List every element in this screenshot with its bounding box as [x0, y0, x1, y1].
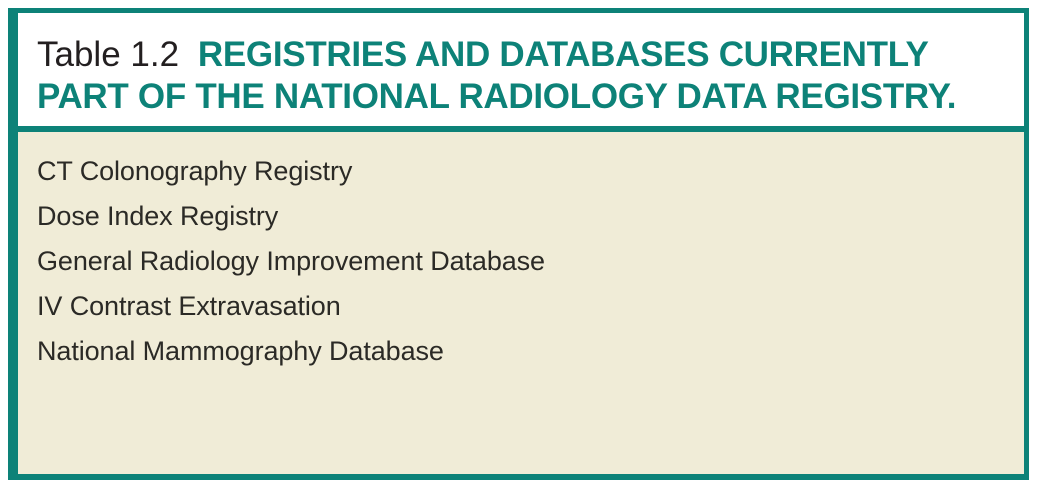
list-item: Dose Index Registry — [37, 194, 1010, 239]
table-number-label: Table 1.2 — [37, 35, 179, 74]
table-header: Table 1.2 REGISTRIES AND DATABASES CURRE… — [18, 13, 1024, 126]
registry-list: CT Colonography Registry Dose Index Regi… — [37, 149, 1010, 374]
page-title: Table 1.2 REGISTRIES AND DATABASES CURRE… — [37, 34, 1010, 118]
list-item: IV Contrast Extravasation — [37, 284, 1010, 329]
list-item: General Radiology Improvement Database — [37, 239, 1010, 284]
table-figure: Table 1.2 REGISTRIES AND DATABASES CURRE… — [8, 8, 1029, 480]
list-item: National Mammography Database — [37, 329, 1010, 374]
table-body: CT Colonography Registry Dose Index Regi… — [18, 132, 1024, 474]
list-item: CT Colonography Registry — [37, 149, 1010, 194]
